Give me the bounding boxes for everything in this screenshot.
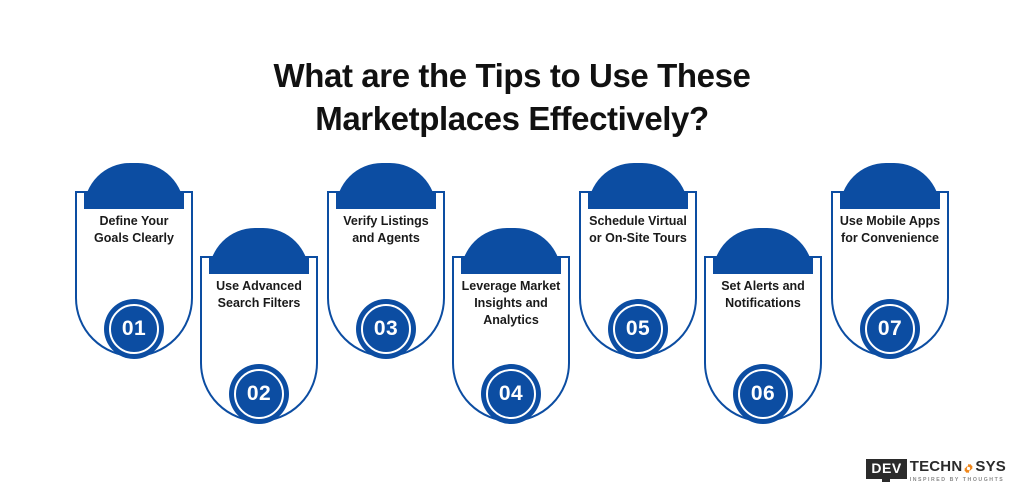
badge-shield: Use Advanced Search Filters02 — [200, 228, 318, 422]
badge-number-circle: 05 — [608, 299, 668, 359]
badge-number-circle: 06 — [733, 364, 793, 424]
badge-shield: Leverage Market Insights and Analytics04 — [452, 228, 570, 422]
tips-badge-row: Define Your Goals Clearly01Use Advanced … — [0, 0, 1024, 499]
devtechnosys-logo: DEV TECHN SYS INSPIRED BY THOUGHTS — [866, 459, 1006, 487]
badge-shield: Define Your Goals Clearly01 — [75, 163, 193, 357]
badge-shield: Set Alerts and Notifications06 — [704, 228, 822, 422]
logo-name: TECHN SYS — [910, 459, 1006, 475]
logo-wordmark: TECHN SYS INSPIRED BY THOUGHTS — [910, 459, 1006, 484]
logo-name-right: SYS — [975, 459, 1006, 475]
badge-number: 01 — [104, 299, 164, 359]
badge-dome-fill — [713, 256, 813, 274]
logo-name-left: TECHN — [910, 459, 963, 475]
badge-dome-fill — [461, 256, 561, 274]
badge-label: Schedule Virtual or On-Site Tours — [585, 213, 691, 247]
badge-label: Set Alerts and Notifications — [710, 278, 816, 312]
badge-number: 03 — [356, 299, 416, 359]
tip-badge-04[interactable]: Leverage Market Insights and Analytics04 — [452, 228, 570, 422]
badge-shield: Schedule Virtual or On-Site Tours05 — [579, 163, 697, 357]
tip-badge-03[interactable]: Verify Listings and Agents03 — [327, 163, 445, 357]
tip-badge-05[interactable]: Schedule Virtual or On-Site Tours05 — [579, 163, 697, 357]
tip-badge-06[interactable]: Set Alerts and Notifications06 — [704, 228, 822, 422]
badge-label: Verify Listings and Agents — [333, 213, 439, 247]
tip-badge-01[interactable]: Define Your Goals Clearly01 — [75, 163, 193, 357]
badge-number: 02 — [229, 364, 289, 424]
badge-dome-fill — [209, 256, 309, 274]
badge-number-circle: 02 — [229, 364, 289, 424]
badge-shield: Verify Listings and Agents03 — [327, 163, 445, 357]
badge-number-circle: 01 — [104, 299, 164, 359]
logo-tagline: INSPIRED BY THOUGHTS — [910, 476, 1006, 484]
badge-label: Define Your Goals Clearly — [81, 213, 187, 247]
gear-icon — [963, 462, 974, 473]
badge-dome-fill — [588, 191, 688, 209]
logo-dev-mark: DEV — [866, 459, 906, 479]
badge-shield: Use Mobile Apps for Convenience07 — [831, 163, 949, 357]
badge-label: Leverage Market Insights and Analytics — [458, 278, 564, 329]
badge-number: 06 — [733, 364, 793, 424]
tip-badge-07[interactable]: Use Mobile Apps for Convenience07 — [831, 163, 949, 357]
badge-number-circle: 04 — [481, 364, 541, 424]
badge-label: Use Mobile Apps for Convenience — [837, 213, 943, 247]
badge-dome-fill — [840, 191, 940, 209]
badge-dome-fill — [84, 191, 184, 209]
tip-badge-02[interactable]: Use Advanced Search Filters02 — [200, 228, 318, 422]
badge-number: 04 — [481, 364, 541, 424]
badge-dome-fill — [336, 191, 436, 209]
badge-number-circle: 07 — [860, 299, 920, 359]
badge-number: 07 — [860, 299, 920, 359]
badge-label: Use Advanced Search Filters — [206, 278, 312, 312]
badge-number: 05 — [608, 299, 668, 359]
badge-number-circle: 03 — [356, 299, 416, 359]
